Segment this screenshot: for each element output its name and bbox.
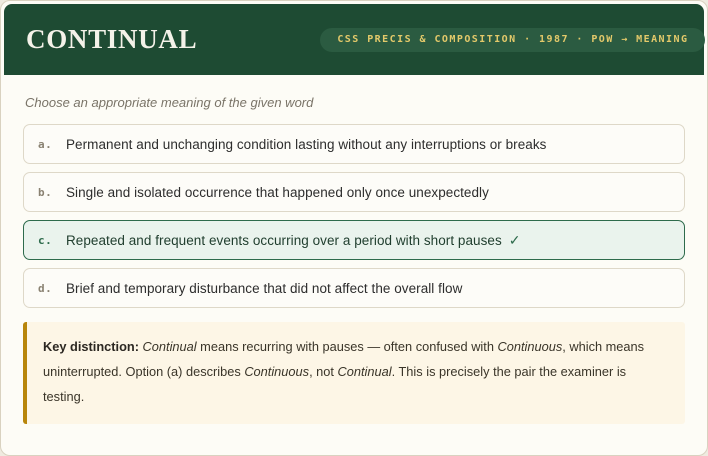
option-c[interactable]: c. Repeated and frequent events occurrin… [23, 220, 685, 260]
note-part2: means recurring with pauses — often conf… [197, 339, 498, 354]
option-d[interactable]: d. Brief and temporary disturbance that … [23, 268, 685, 308]
option-a[interactable]: a. Permanent and unchanging condition la… [23, 124, 685, 164]
option-text: Brief and temporary disturbance that did… [66, 281, 462, 296]
option-text: Single and isolated occurrence that happ… [66, 185, 489, 200]
key-distinction-note: Key distinction: Continual means recurri… [23, 322, 685, 424]
option-letter: b. [38, 186, 66, 199]
header-bar: CONTINUAL CSS PRECIS & COMPOSITION · 198… [4, 4, 704, 75]
note-em3: Continuous [244, 364, 309, 379]
option-text: Permanent and unchanging condition lasti… [66, 137, 546, 152]
note-paragraph: Key distinction: Continual means recurri… [43, 335, 667, 410]
options-list: a. Permanent and unchanging condition la… [23, 124, 685, 308]
quiz-card: CONTINUAL CSS PRECIS & COMPOSITION · 198… [0, 0, 708, 456]
option-text: Repeated and frequent events occurring o… [66, 233, 502, 248]
note-em2: Continuous [498, 339, 563, 354]
option-letter: a. [38, 138, 66, 151]
option-letter: c. [38, 234, 66, 247]
note-label: Key distinction: [43, 339, 139, 354]
question-prompt: Choose an appropriate meaning of the giv… [25, 95, 685, 110]
check-icon: ✓ [509, 232, 521, 249]
note-part4: , not [309, 364, 337, 379]
option-letter: d. [38, 282, 66, 295]
content-area: Choose an appropriate meaning of the giv… [1, 75, 707, 424]
note-em4: Continual [338, 364, 392, 379]
note-em1: Continual [143, 339, 197, 354]
option-b[interactable]: b. Single and isolated occurrence that h… [23, 172, 685, 212]
exam-meta-badge: CSS PRECIS & COMPOSITION · 1987 · POW → … [320, 28, 705, 52]
page-title: CONTINUAL [26, 24, 197, 55]
